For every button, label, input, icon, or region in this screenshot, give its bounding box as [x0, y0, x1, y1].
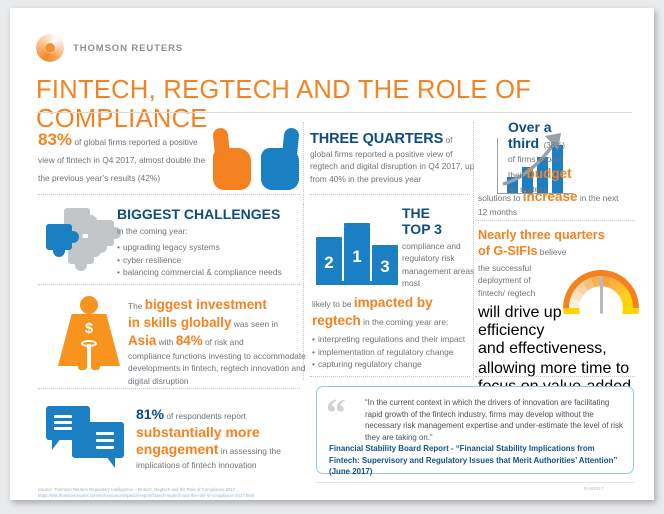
- over-a-third-solutions: solutions to: [478, 193, 523, 203]
- thomson-reuters-logo: [36, 34, 64, 62]
- title-divider: [36, 112, 632, 113]
- speech-bubbles-icon: [46, 404, 128, 470]
- over-a-third-increase-line: solutions to increase in the next 12 mon…: [478, 188, 650, 218]
- list-item: capturing regulatory change: [312, 358, 484, 371]
- over-a-third-line1: Over a: [508, 120, 636, 135]
- podium-place-2: 2: [316, 241, 342, 281]
- skills-tail: compliance functions investing to accomm…: [128, 350, 308, 387]
- divider-v4: [473, 222, 474, 380]
- skills-the: The: [128, 301, 145, 311]
- engagement-block: 81% of respondents report substantially …: [136, 406, 311, 471]
- list-item: implementation of regulatory change: [312, 346, 484, 359]
- gsifi-believe: believe: [537, 247, 566, 257]
- puzzle-pieces-icon: [44, 208, 110, 270]
- skills-asia: Asia: [128, 333, 156, 348]
- gsifi-sub: the successful deployment of fintech/ re…: [478, 262, 546, 299]
- top3-list: interpreting regulations and their impac…: [312, 333, 484, 371]
- thumbs-up-illustration: [213, 128, 301, 194]
- skills-big2: in skills globally: [128, 315, 231, 330]
- thumbs-up-icon-orange: [213, 128, 251, 190]
- footer-code: RA92017: [584, 486, 604, 491]
- engagement-of-resp: of respondents report: [164, 411, 246, 421]
- top3-line2: TOP 3: [402, 222, 480, 238]
- footer: Source: Thomson Reuters Regulatory Intel…: [38, 487, 368, 499]
- stat-83-value: 83%: [38, 130, 72, 149]
- biggest-challenges-headline: BIGGEST CHALLENGES: [117, 206, 307, 222]
- over-a-third-line5: in the next: [578, 193, 619, 203]
- three-quarters-text: global firms reported a positive view of…: [310, 148, 482, 185]
- over-a-third-increase: increase: [523, 189, 578, 204]
- divider-h1: [38, 194, 300, 195]
- biggest-challenges-sub: in the coming year:: [117, 225, 307, 237]
- quote-card: “ “In the current context in which the d…: [316, 386, 634, 474]
- skills-big1: biggest investment: [145, 297, 267, 312]
- gsifi-will: will: [478, 304, 505, 321]
- dollar-sign-icon: $: [77, 318, 101, 340]
- top3-regtech: regtech: [312, 313, 361, 328]
- gsifi-drive-l2: efficiency: [478, 322, 640, 340]
- skills-investment-block: The biggest investment in skills globall…: [128, 296, 308, 387]
- footer-url[interactable]: https://risk.thomsonreuters.com/en/resou…: [38, 493, 368, 499]
- divider-h6: [475, 376, 635, 377]
- over-a-third-line6: 12 months: [478, 206, 650, 218]
- skills-with: with: [156, 337, 176, 347]
- gsifi-headline-l2: of G-SIFIs: [478, 244, 537, 258]
- divider-h3: [475, 220, 635, 221]
- gsifi-comma: ,: [602, 340, 606, 357]
- gsifi-headline-l1: Nearly three quarters: [478, 228, 638, 242]
- podium-icon: 2 1 3: [316, 213, 398, 285]
- top3-impacted: impacted by: [354, 295, 433, 310]
- engagement-tail: implications of fintech innovation: [136, 459, 311, 471]
- biggest-challenges-block: BIGGEST CHALLENGES in the coming year: u…: [117, 206, 307, 279]
- over-a-third-budget: budget: [527, 166, 572, 181]
- list-item: balancing commercial & compliance needs: [117, 266, 307, 279]
- three-quarters-block: THREE QUARTERS of global firms reported …: [310, 130, 482, 185]
- brand-name: THOMSON REUTERS: [73, 43, 183, 54]
- over-a-third-pct: (38%): [544, 141, 565, 150]
- stat-83-block: 83% of global firms reported a positive …: [38, 130, 206, 186]
- three-quarters-of: of: [443, 135, 452, 145]
- engagement-in-assessing: in assessing the: [218, 446, 280, 456]
- list-item: interpreting regulations and their impac…: [312, 333, 484, 346]
- top3-coming: in the coming year are:: [361, 317, 449, 327]
- divider-h7: [38, 388, 300, 389]
- footer-divider: [316, 482, 634, 483]
- engagement-big2: engagement: [136, 441, 218, 457]
- skills-was-seen: was seen in: [231, 319, 278, 329]
- engagement-big1: substantially more: [136, 424, 311, 441]
- over-a-third-line3: of firms expect: [508, 153, 636, 165]
- engagement-pct: 81%: [136, 406, 164, 422]
- skills-pct: 84%: [176, 333, 203, 348]
- list-item: cyber resilience: [117, 254, 307, 267]
- gsifi-drive-l3: and effectiveness: [478, 340, 602, 357]
- divider-h2: [310, 194, 470, 195]
- divider-h5: [310, 376, 470, 377]
- skills-of-risk: of risk and: [203, 337, 244, 347]
- biggest-challenges-list: upgrading legacy systems cyber resilienc…: [117, 241, 307, 279]
- podium-place-3: 3: [372, 249, 398, 281]
- three-quarters-headline: THREE QUARTERS: [310, 131, 443, 147]
- top3-sub: compliance and regulatory risk managemen…: [402, 240, 480, 289]
- superhero-dollar-icon: $: [58, 296, 120, 370]
- brand-lockup: THOMSON REUTERS: [36, 34, 183, 62]
- over-a-third-their: their: [508, 170, 527, 180]
- speech-bubble-front: [72, 422, 124, 458]
- over-a-third-line2: third: [508, 135, 539, 151]
- top3-likely: likely to be: [312, 299, 354, 309]
- top3-impact-block: likely to be impacted by regtech in the …: [312, 294, 484, 371]
- quote-text: “In the current context in which the dri…: [365, 397, 623, 443]
- podium-place-1: 1: [344, 227, 370, 281]
- top3-line1: THE: [402, 206, 480, 222]
- quotation-mark-icon: “: [326, 393, 346, 433]
- top3-block: THE TOP 3 compliance and regulatory risk…: [402, 206, 480, 289]
- over-a-third-block: Over a third (38%) of firms expect their…: [508, 120, 636, 196]
- thumbs-up-icon-blue: [261, 128, 299, 190]
- infographic-page: THOMSON REUTERS FINTECH, REGTECH AND THE…: [10, 8, 654, 500]
- quote-source: Financial Stability Board Report - “Fina…: [329, 443, 625, 478]
- list-item: upgrading legacy systems: [117, 241, 307, 254]
- gsifi-drive-l1: drive up: [505, 304, 562, 321]
- divider-h4: [38, 284, 300, 285]
